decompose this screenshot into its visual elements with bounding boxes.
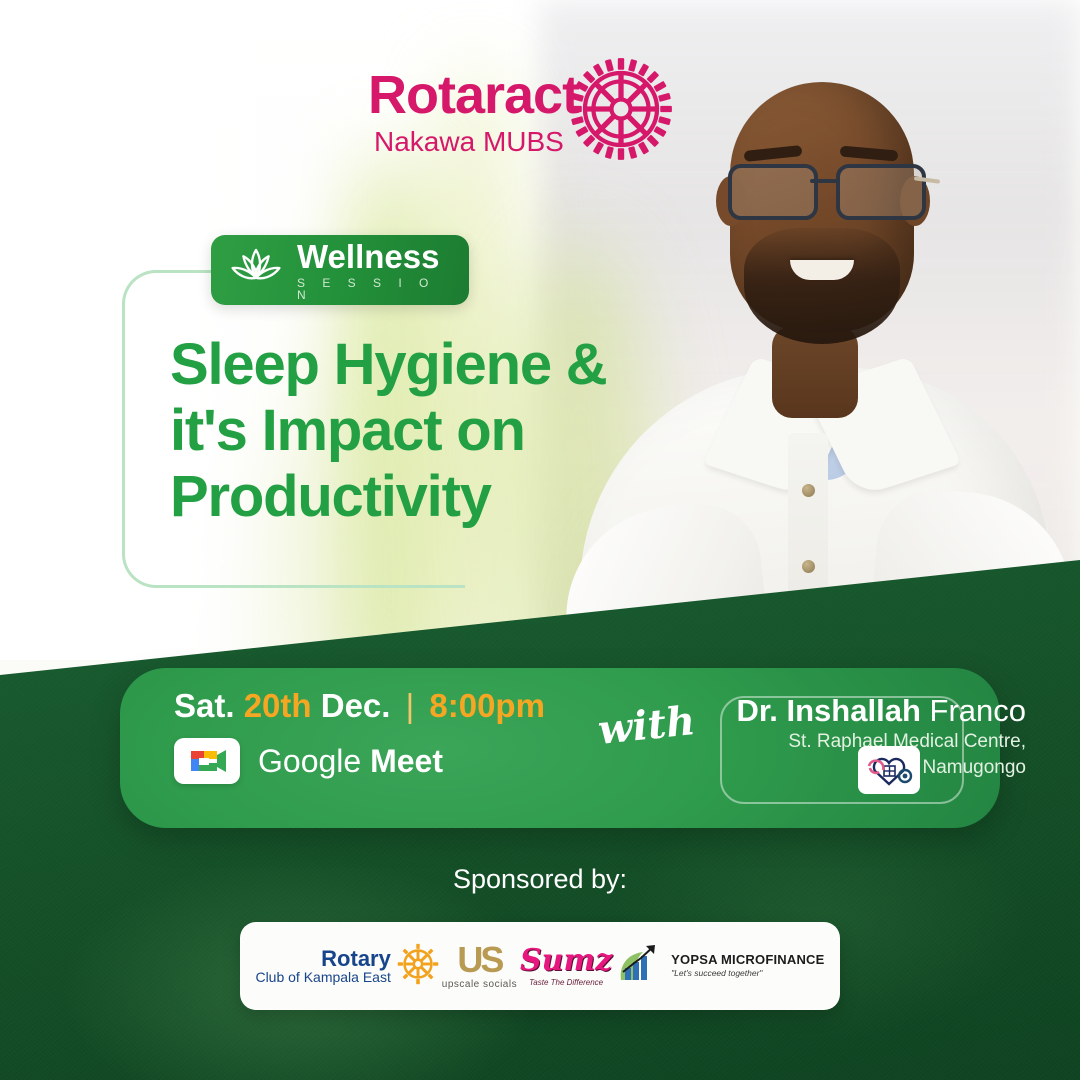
speaker-surname: Franco [930, 693, 1026, 728]
sponsor-rotary: Rotary Club of Kampala East [255, 943, 438, 990]
photo-button [802, 560, 815, 573]
sponsor-sumz: Sumz Taste The Difference [520, 946, 612, 987]
sponsor-upscale-socials: US upscale socials [442, 942, 517, 990]
with-label: with [596, 697, 698, 754]
platform-name-bold: Meet [370, 743, 443, 779]
photo-lens-right [836, 164, 926, 220]
sponsor-rotary-subtitle: Club of Kampala East [255, 970, 390, 985]
glasses-icon [726, 164, 922, 216]
photo-smile [790, 260, 854, 280]
sponsors-card: Rotary Club of Kampala East [240, 922, 840, 1010]
heart-stethoscope-icon [858, 746, 920, 794]
growth-chart-icon [615, 942, 665, 991]
sponsors-heading: Sponsored by: [0, 864, 1080, 895]
platform-name: Google [258, 743, 361, 779]
event-month: Dec. [321, 687, 391, 724]
photo-beard [744, 228, 900, 344]
event-day: Sat. [174, 687, 235, 724]
sponsor-sumz-subtitle: Taste The Difference [520, 979, 612, 987]
badge-title: Wellness [297, 240, 451, 273]
event-platform: Google Meet [174, 738, 574, 784]
photo-button [802, 484, 815, 497]
photo-glasses-bridge [810, 179, 838, 183]
rotaract-club: Nakawa MUBS [374, 126, 564, 158]
sponsor-yopsa-name: YOPSA MICROFINANCE [671, 953, 824, 967]
us-monogram-icon: US [442, 942, 517, 978]
rotaract-logo: Rotaract Nakawa MUBS [368, 62, 668, 180]
google-meet-icon [174, 738, 240, 784]
wellness-session-badge: Wellness S E S S I O N [211, 235, 469, 305]
badge-subtitle: S E S S I O N [297, 277, 451, 301]
sponsor-upscale-subtitle: upscale socials [442, 980, 517, 990]
photo-lens-left [728, 164, 818, 220]
rotary-wheel-icon [568, 56, 674, 167]
speaker-title-name: Dr. Inshallah [737, 693, 921, 728]
sponsor-sumz-name: Sumz [520, 946, 612, 976]
page-title: Sleep Hygiene & it's Impact on Productiv… [170, 332, 640, 530]
event-flyer: Rotaract Nakawa MUBS [0, 0, 1080, 1080]
sponsor-rotary-name: Rotary [255, 947, 390, 970]
sponsor-yopsa-subtitle: "Let's succeed together" [671, 969, 824, 978]
event-details: Sat. 20th Dec. | 8:00pm Goog [174, 688, 574, 784]
event-datetime: Sat. 20th Dec. | 8:00pm [174, 688, 574, 724]
lotus-icon [229, 246, 283, 295]
rotaract-name: Rotaract [368, 68, 579, 122]
event-date: 20th [244, 687, 312, 724]
speaker-name: Dr. Inshallah Franco [716, 694, 1026, 728]
platform-label: Google Meet [258, 743, 443, 780]
event-time: 8:00pm [429, 687, 545, 724]
rotary-wheel-icon [397, 943, 439, 990]
sponsor-yopsa: YOPSA MICROFINANCE "Let's succeed togeth… [615, 942, 824, 991]
event-separator: | [400, 687, 421, 724]
